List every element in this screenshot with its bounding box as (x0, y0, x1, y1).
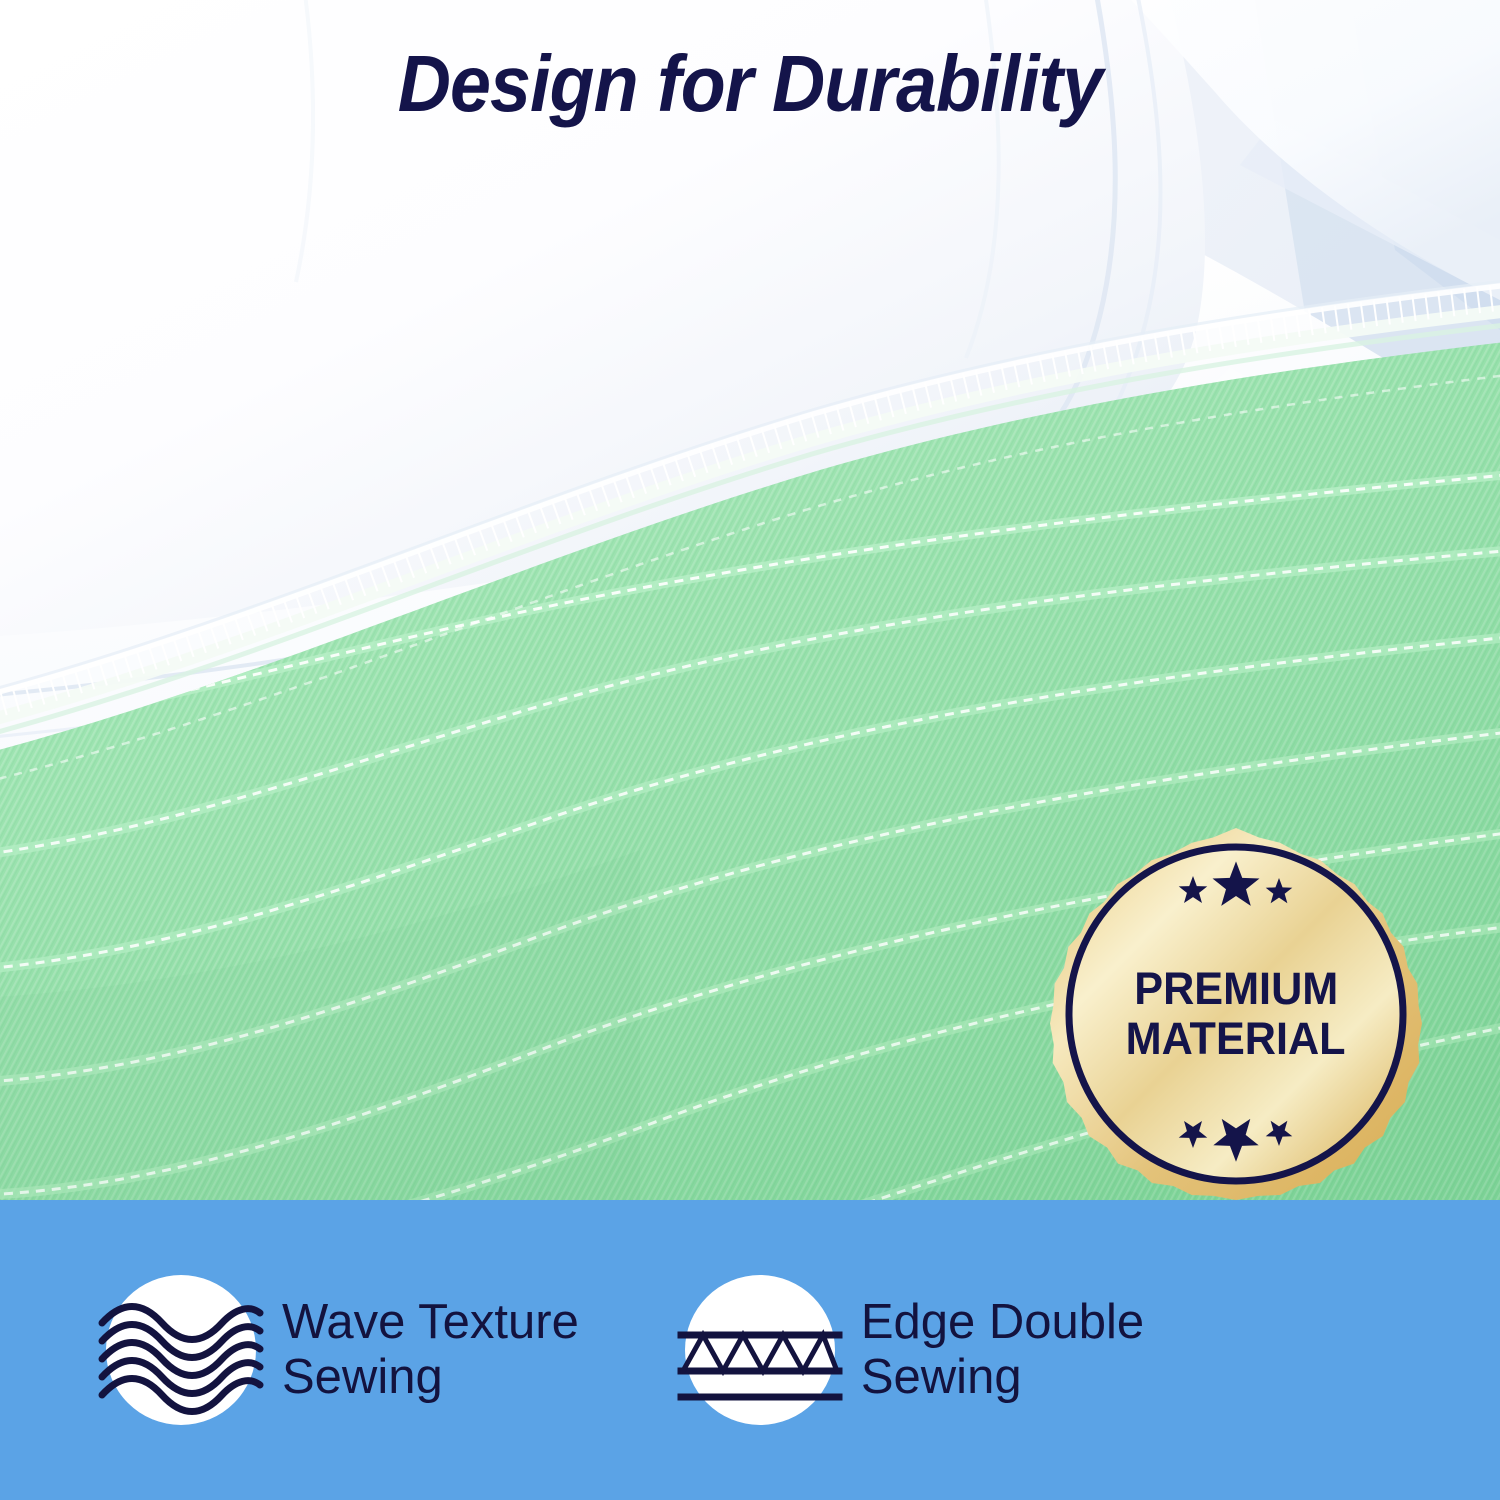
feature-list: Wave Texture Sewing Edge Double Sewing (0, 1200, 1500, 1500)
feature-band: Wave Texture Sewing Edge Double Sewing (0, 1200, 1500, 1500)
badge-seal-icon (1040, 828, 1432, 1200)
feature-item-edge-double-sewing: Edge Double Sewing (685, 1275, 1144, 1425)
premium-material-badge: PREMIUM MATERIAL (1040, 828, 1432, 1200)
feature-label-wave-texture-sewing: Wave Texture Sewing (282, 1295, 579, 1405)
feature-label-edge-double-sewing: Edge Double Sewing (861, 1295, 1144, 1405)
page-title: Design for Durability (60, 44, 1440, 124)
product-feature-image: Design for Durability (0, 0, 1500, 1500)
wave-lines-icon (106, 1275, 256, 1425)
wave-lines-glyph (100, 1275, 262, 1425)
feature-item-wave-texture-sewing: Wave Texture Sewing (106, 1275, 579, 1425)
zigzag-stitch-icon (685, 1275, 835, 1425)
zigzag-stitch-glyph (679, 1275, 841, 1425)
